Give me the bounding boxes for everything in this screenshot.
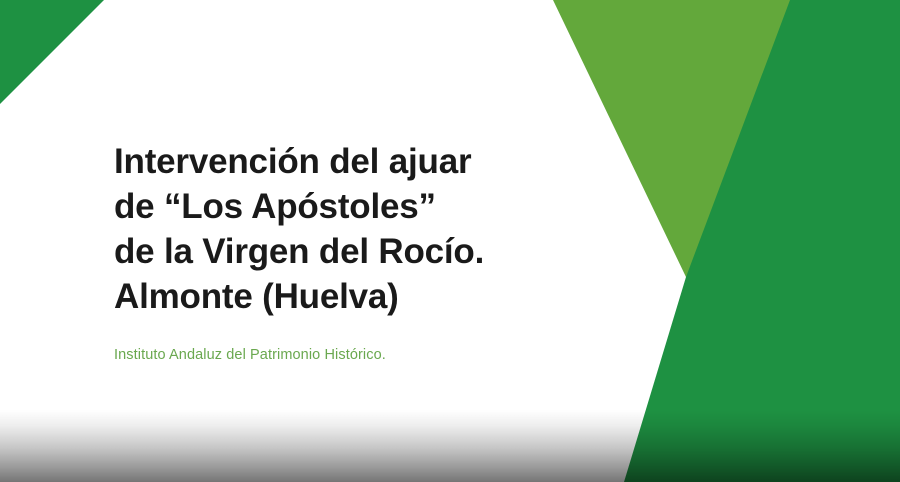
slide-text-block: Intervención del ajuar de “Los Apóstoles…	[114, 139, 584, 365]
page-title: Intervención del ajuar de “Los Apóstoles…	[114, 139, 584, 319]
presentation-slide: Intervención del ajuar de “Los Apóstoles…	[0, 0, 900, 482]
slide-subtitle: Instituto Andaluz del Patrimonio Históri…	[114, 319, 584, 365]
top-left-dark-green-triangle-icon	[0, 0, 104, 104]
